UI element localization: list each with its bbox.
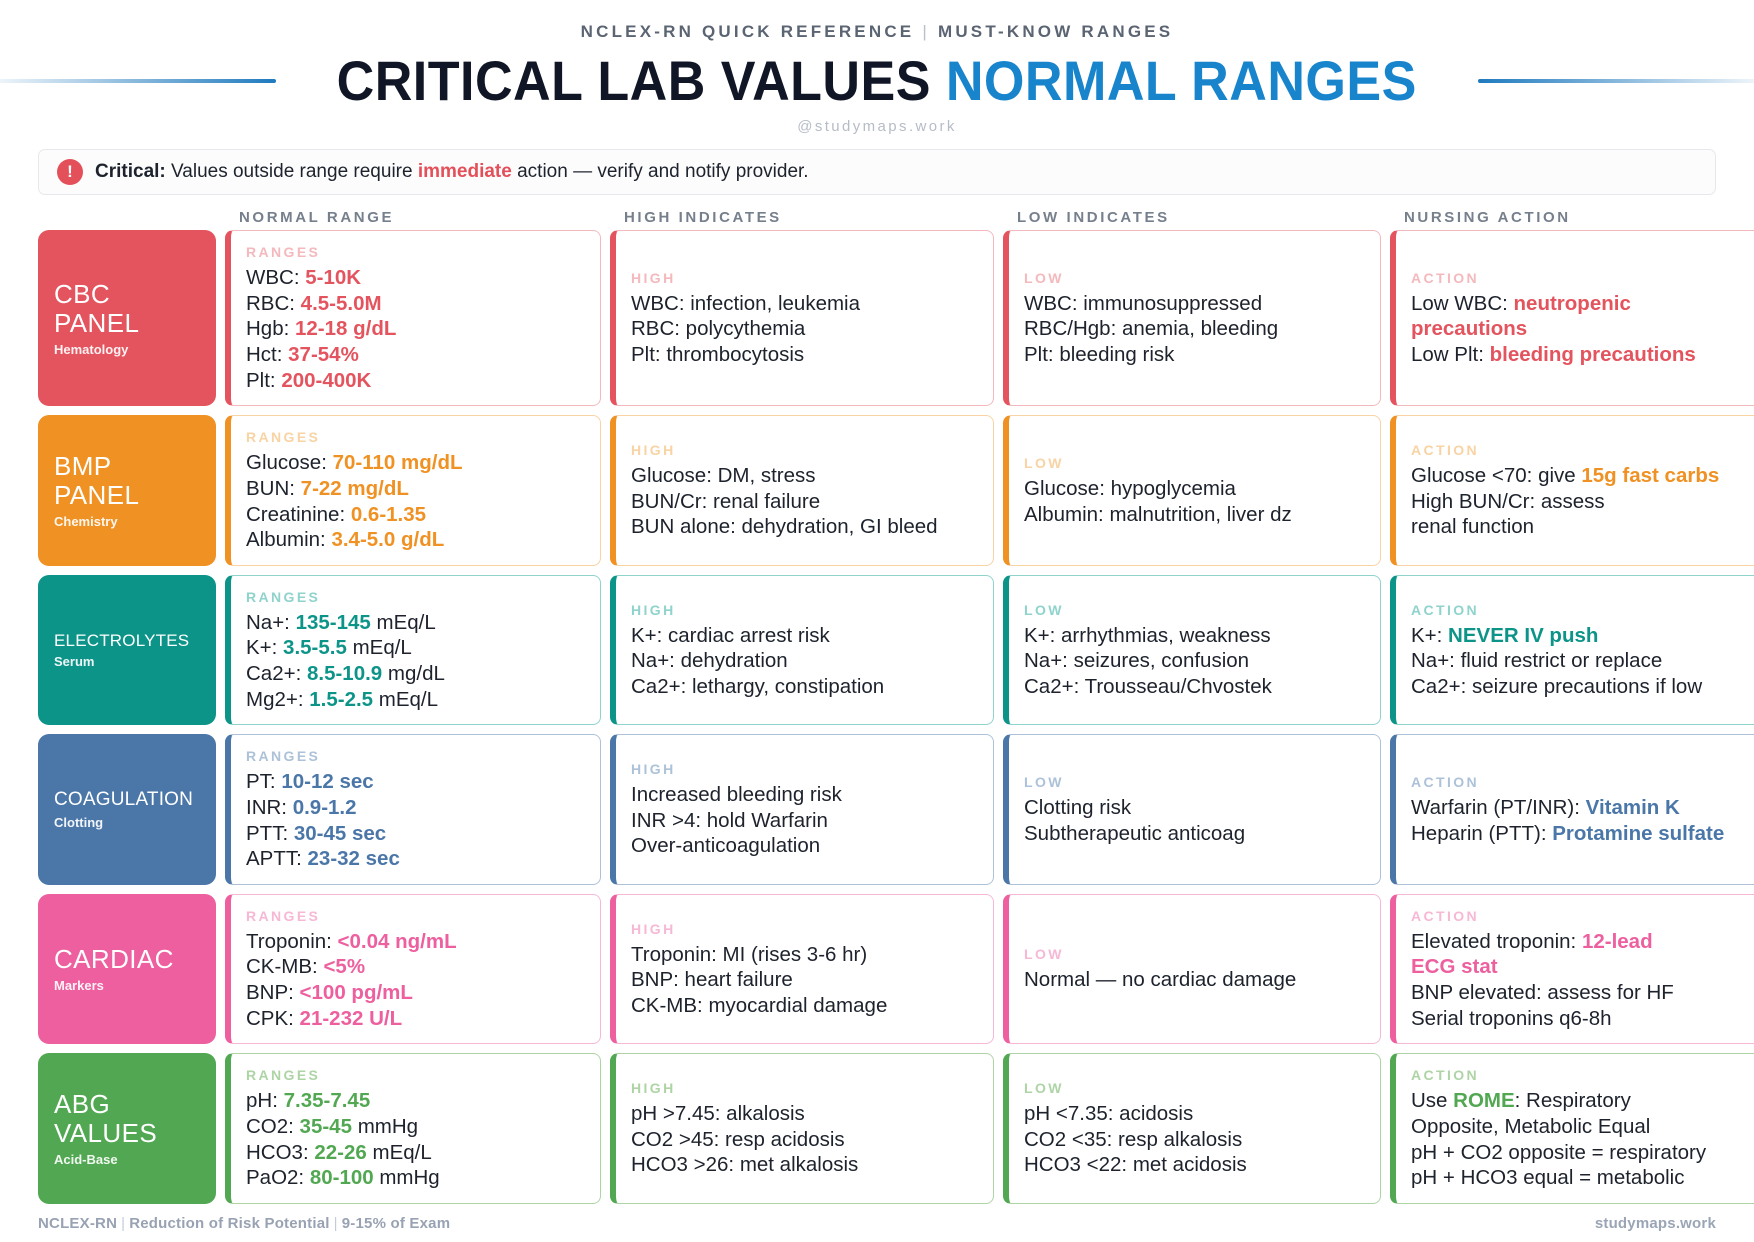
- card-label-low: LOW: [1024, 455, 1364, 471]
- critical-text-after: action — verify and notify provider.: [512, 161, 809, 182]
- card-label-ranges: RANGES: [246, 748, 584, 764]
- action-line: ECG stat: [1411, 954, 1753, 980]
- action-line: High BUN/Cr: assess: [1411, 489, 1753, 515]
- action-highlight: Vitamin K: [1586, 796, 1680, 819]
- low-line: HCO3 <22: met acidosis: [1024, 1152, 1364, 1178]
- high-line: CO2 >45: resp acidosis: [631, 1127, 977, 1153]
- action-highlight: ECG stat: [1411, 955, 1498, 978]
- action-highlight: bleeding precautions: [1490, 343, 1696, 366]
- action-line: BNP elevated: assess for HF: [1411, 980, 1753, 1006]
- high-card: HIGHTroponin: MI (rises 3-6 hr)BNP: hear…: [610, 894, 994, 1045]
- range-line: pH: 7.35-7.45: [246, 1088, 584, 1114]
- low-card: LOWK+: arrhythmias, weaknessNa+: seizure…: [1003, 575, 1381, 726]
- low-line: Normal — no cardiac damage: [1024, 967, 1364, 993]
- page-title: CRITICAL LAB VALUES NORMAL RANGES: [337, 52, 1417, 110]
- ranges-card: RANGESPT: 10-12 secINR: 0.9-1.2PTT: 30-4…: [225, 734, 601, 885]
- card-label-high: HIGH: [631, 270, 977, 286]
- range-value: 23-32 sec: [302, 847, 400, 870]
- high-line: Ca2+: lethargy, constipation: [631, 674, 977, 700]
- low-line: RBC/Hgb: anemia, bleeding: [1024, 316, 1364, 342]
- action-line: pH + HCO3 equal = metabolic: [1411, 1165, 1753, 1191]
- footer-percent: 9-15% of Exam: [342, 1215, 450, 1232]
- column-header-high-indicates: HIGH INDICATES: [610, 209, 994, 226]
- ranges-card: RANGESpH: 7.35-7.45CO2: 35-45 mmHgHCO3: …: [225, 1053, 601, 1204]
- range-value: 3.5-5.5: [277, 636, 347, 659]
- range-line: Hgb: 12-18 g/dL: [246, 316, 584, 342]
- low-line: K+: arrhythmias, weakness: [1024, 623, 1364, 649]
- action-highlight: precautions: [1411, 317, 1527, 340]
- high-line: Plt: thrombocytosis: [631, 342, 977, 368]
- range-value: 12-18 g/dL: [289, 317, 396, 340]
- footer-separator-2: |: [330, 1215, 342, 1232]
- high-line: HCO3 >26: met alkalosis: [631, 1152, 977, 1178]
- card-label-high: HIGH: [631, 1080, 977, 1096]
- title-rule-left: [0, 79, 276, 83]
- range-value: 5-10K: [300, 266, 362, 289]
- range-value: 22-26: [309, 1141, 367, 1164]
- ranges-card: RANGESGlucose: 70-110 mg/dLBUN: 7-22 mg/…: [225, 415, 601, 566]
- card-label-action: ACTION: [1411, 270, 1753, 286]
- card-label-ranges: RANGES: [246, 1067, 584, 1083]
- category-subtitle: Markers: [54, 978, 200, 993]
- category-subtitle: Hematology: [54, 342, 200, 357]
- column-header-spacer: [38, 209, 216, 226]
- range-line: Glucose: 70-110 mg/dL: [246, 450, 584, 476]
- footer-left: NCLEX-RN|Reduction of Risk Potential|9-1…: [38, 1215, 450, 1232]
- action-line: renal function: [1411, 514, 1753, 540]
- low-line: Subtherapeutic anticoag: [1024, 821, 1364, 847]
- action-card: ACTIONGlucose <70: give 15g fast carbsHi…: [1390, 415, 1754, 566]
- high-card: HIGHWBC: infection, leukemiaRBC: polycyt…: [610, 230, 994, 406]
- range-line: BNP: <100 pg/mL: [246, 980, 584, 1006]
- low-line: Glucose: hypoglycemia: [1024, 476, 1364, 502]
- critical-highlight: immediate: [418, 161, 512, 182]
- action-card: ACTIONK+: NEVER IV pushNa+: fluid restri…: [1390, 575, 1754, 726]
- action-card: ACTIONLow WBC: neutropenicprecautionsLow…: [1390, 230, 1754, 406]
- handle: @studymaps.work: [38, 118, 1716, 135]
- range-value: 200-400K: [276, 369, 372, 392]
- high-card: HIGHpH >7.45: alkalosisCO2 >45: resp aci…: [610, 1053, 994, 1204]
- title-accent: NORMAL RANGES: [946, 49, 1417, 112]
- low-line: CO2 <35: resp alkalosis: [1024, 1127, 1364, 1153]
- high-line: BUN/Cr: renal failure: [631, 489, 977, 515]
- range-line: PT: 10-12 sec: [246, 769, 584, 795]
- kicker-right: MUST-KNOW RANGES: [938, 22, 1173, 41]
- action-card: ACTIONUse ROME: RespiratoryOpposite, Met…: [1390, 1053, 1754, 1204]
- action-card: ACTIONWarfarin (PT/INR): Vitamin KHepari…: [1390, 734, 1754, 885]
- range-value: <0.04 ng/mL: [332, 930, 457, 953]
- card-label-action: ACTION: [1411, 442, 1753, 458]
- lab-values-grid: CBCPANELHematologyRANGESWBC: 5-10KRBC: 4…: [38, 230, 1716, 1204]
- action-highlight: Protamine sulfate: [1552, 822, 1724, 845]
- high-line: Increased bleeding risk: [631, 782, 977, 808]
- low-card: LOWWBC: immunosuppressedRBC/Hgb: anemia,…: [1003, 230, 1381, 406]
- card-label-high: HIGH: [631, 442, 977, 458]
- high-card: HIGHK+: cardiac arrest riskNa+: dehydrat…: [610, 575, 994, 726]
- action-line: K+: NEVER IV push: [1411, 623, 1753, 649]
- card-label-low: LOW: [1024, 1080, 1364, 1096]
- action-card: ACTIONElevated troponin: 12-leadECG stat…: [1390, 894, 1754, 1045]
- kicker: NCLEX-RN QUICK REFERENCE|MUST-KNOW RANGE…: [38, 22, 1716, 42]
- action-line: Low Plt: bleeding precautions: [1411, 342, 1753, 368]
- card-label-low: LOW: [1024, 270, 1364, 286]
- range-value: 0.6-1.35: [345, 503, 426, 526]
- low-line: Albumin: malnutrition, liver dz: [1024, 502, 1364, 528]
- card-label-ranges: RANGES: [246, 589, 584, 605]
- title-rule-right: [1478, 79, 1754, 83]
- range-line: HCO3: 22-26 mEq/L: [246, 1140, 584, 1166]
- range-value: <5%: [318, 955, 365, 978]
- action-line: Elevated troponin: 12-lead: [1411, 929, 1753, 955]
- low-line: Ca2+: Trousseau/Chvostek: [1024, 674, 1364, 700]
- range-value: 7-22 mg/dL: [295, 477, 409, 500]
- range-value: 7.35-7.45: [278, 1089, 370, 1112]
- critical-alert-bar: ! Critical: Values outside range require…: [38, 149, 1716, 195]
- high-line: INR >4: hold Warfarin: [631, 808, 977, 834]
- card-label-low: LOW: [1024, 774, 1364, 790]
- high-line: pH >7.45: alkalosis: [631, 1101, 977, 1127]
- action-line: Ca2+: seizure precautions if low: [1411, 674, 1753, 700]
- range-line: INR: 0.9-1.2: [246, 795, 584, 821]
- card-label-high: HIGH: [631, 761, 977, 777]
- card-label-action: ACTION: [1411, 774, 1753, 790]
- card-label-action: ACTION: [1411, 1067, 1753, 1083]
- range-value: 3.4-5.0 g/dL: [326, 528, 444, 551]
- footer-brand: studymaps.work: [1595, 1215, 1716, 1232]
- action-line: Opposite, Metabolic Equal: [1411, 1114, 1753, 1140]
- action-highlight: neutropenic: [1514, 292, 1631, 315]
- range-line: CPK: 21-232 U/L: [246, 1006, 584, 1032]
- range-line: Albumin: 3.4-5.0 g/dL: [246, 527, 584, 553]
- low-line: Plt: bleeding risk: [1024, 342, 1364, 368]
- column-header-low-indicates: LOW INDICATES: [1003, 209, 1381, 226]
- category-name: ABGVALUES: [54, 1090, 200, 1148]
- low-line: pH <7.35: acidosis: [1024, 1101, 1364, 1127]
- high-line: BNP: heart failure: [631, 967, 977, 993]
- high-line: BUN alone: dehydration, GI bleed: [631, 514, 977, 540]
- action-line: pH + CO2 opposite = respiratory: [1411, 1140, 1753, 1166]
- kicker-separator: |: [914, 22, 938, 41]
- category-name: COAGULATION: [54, 789, 200, 810]
- category-tile[interactable]: ABGVALUESAcid-Base: [38, 1053, 216, 1204]
- action-line: Na+: fluid restrict or replace: [1411, 648, 1753, 674]
- range-line: Mg2+: 1.5-2.5 mEq/L: [246, 687, 584, 713]
- range-line: CK-MB: <5%: [246, 954, 584, 980]
- category-tile[interactable]: BMPPANELChemistry: [38, 415, 216, 566]
- card-label-ranges: RANGES: [246, 908, 584, 924]
- low-line: Na+: seizures, confusion: [1024, 648, 1364, 674]
- range-line: BUN: 7-22 mg/dL: [246, 476, 584, 502]
- range-value: 80-100: [304, 1166, 374, 1189]
- ranges-card: RANGESNa+: 135-145 mEq/LK+: 3.5-5.5 mEq/…: [225, 575, 601, 726]
- infographic-page: NCLEX-RN QUICK REFERENCE|MUST-KNOW RANGE…: [0, 0, 1754, 1242]
- title-main: CRITICAL LAB VALUES: [337, 49, 931, 112]
- critical-alert-text: Critical: Values outside range require i…: [95, 161, 809, 183]
- ranges-card: RANGESTroponin: <0.04 ng/mLCK-MB: <5%BNP…: [225, 894, 601, 1045]
- critical-text-before: Values outside range require: [166, 161, 418, 182]
- footer-separator-1: |: [117, 1215, 129, 1232]
- low-card: LOWNormal — no cardiac damage: [1003, 894, 1381, 1045]
- range-value: 21-232 U/L: [294, 1007, 402, 1030]
- action-highlight: 15g fast carbs: [1581, 464, 1719, 487]
- range-line: K+: 3.5-5.5 mEq/L: [246, 635, 584, 661]
- range-line: RBC: 4.5-5.0M: [246, 291, 584, 317]
- range-line: CO2: 35-45 mmHg: [246, 1114, 584, 1140]
- card-label-high: HIGH: [631, 921, 977, 937]
- category-name: CBCPANEL: [54, 280, 200, 338]
- critical-label: Critical:: [95, 161, 166, 182]
- category-subtitle: Acid-Base: [54, 1152, 200, 1167]
- range-value: 4.5-5.0M: [295, 292, 382, 315]
- action-highlight: 12-lead: [1582, 930, 1653, 953]
- high-card: HIGHIncreased bleeding riskINR >4: hold …: [610, 734, 994, 885]
- footer: NCLEX-RN|Reduction of Risk Potential|9-1…: [38, 1215, 1716, 1232]
- range-value: <100 pg/mL: [294, 981, 413, 1004]
- range-value: 1.5-2.5: [304, 688, 374, 711]
- range-line: Plt: 200-400K: [246, 368, 584, 394]
- range-value: 30-45 sec: [288, 822, 386, 845]
- category-name: CARDIAC: [54, 945, 200, 974]
- card-label-low: LOW: [1024, 602, 1364, 618]
- range-line: Ca2+: 8.5-10.9 mg/dL: [246, 661, 584, 687]
- range-line: Creatinine: 0.6-1.35: [246, 502, 584, 528]
- range-line: APTT: 23-32 sec: [246, 846, 584, 872]
- category-name: ELECTROLYTES: [54, 631, 200, 650]
- range-line: PaO2: 80-100 mmHg: [246, 1165, 584, 1191]
- action-line: Warfarin (PT/INR): Vitamin K: [1411, 795, 1753, 821]
- low-card: LOWpH <7.35: acidosisCO2 <35: resp alkal…: [1003, 1053, 1381, 1204]
- card-label-ranges: RANGES: [246, 429, 584, 445]
- footer-category: Reduction of Risk Potential: [129, 1215, 329, 1232]
- range-line: PTT: 30-45 sec: [246, 821, 584, 847]
- low-card: LOWGlucose: hypoglycemiaAlbumin: malnutr…: [1003, 415, 1381, 566]
- category-name: BMPPANEL: [54, 452, 200, 510]
- high-line: RBC: polycythemia: [631, 316, 977, 342]
- kicker-left: NCLEX-RN QUICK REFERENCE: [581, 22, 915, 41]
- high-line: Troponin: MI (rises 3-6 hr): [631, 942, 977, 968]
- action-line: precautions: [1411, 316, 1753, 342]
- range-value: 70-110 mg/dL: [327, 451, 463, 474]
- column-headers: NORMAL RANGE HIGH INDICATES LOW INDICATE…: [38, 209, 1716, 226]
- range-line: Troponin: <0.04 ng/mL: [246, 929, 584, 955]
- category-tile[interactable]: CBCPANELHematology: [38, 230, 216, 406]
- column-header-normal-range: NORMAL RANGE: [225, 209, 601, 226]
- action-line: Glucose <70: give 15g fast carbs: [1411, 463, 1753, 489]
- low-line: WBC: immunosuppressed: [1024, 291, 1364, 317]
- range-line: WBC: 5-10K: [246, 265, 584, 291]
- card-label-action: ACTION: [1411, 908, 1753, 924]
- action-line: Serial troponins q6-8h: [1411, 1006, 1753, 1032]
- action-highlight: ROME: [1453, 1089, 1515, 1112]
- column-header-nursing-action: NURSING ACTION: [1390, 209, 1754, 226]
- action-line: Low WBC: neutropenic: [1411, 291, 1753, 317]
- ranges-card: RANGESWBC: 5-10KRBC: 4.5-5.0MHgb: 12-18 …: [225, 230, 601, 406]
- range-value: 35-45: [294, 1115, 352, 1138]
- range-value: 0.9-1.2: [287, 796, 357, 819]
- category-subtitle: Clotting: [54, 815, 200, 830]
- high-line: CK-MB: myocardial damage: [631, 993, 977, 1019]
- category-tile[interactable]: CARDIACMarkers: [38, 894, 216, 1045]
- action-line: Use ROME: Respiratory: [1411, 1088, 1753, 1114]
- high-line: Glucose: DM, stress: [631, 463, 977, 489]
- range-value: 37-54%: [282, 343, 358, 366]
- footer-exam: NCLEX-RN: [38, 1215, 117, 1232]
- high-line: K+: cardiac arrest risk: [631, 623, 977, 649]
- high-line: WBC: infection, leukemia: [631, 291, 977, 317]
- action-line: Heparin (PTT): Protamine sulfate: [1411, 821, 1753, 847]
- range-value: 10-12 sec: [276, 770, 374, 793]
- high-line: Na+: dehydration: [631, 648, 977, 674]
- category-subtitle: Chemistry: [54, 514, 200, 529]
- action-highlight: NEVER IV push: [1448, 624, 1598, 647]
- category-tile[interactable]: COAGULATIONClotting: [38, 734, 216, 885]
- low-card: LOWClotting riskSubtherapeutic anticoag: [1003, 734, 1381, 885]
- high-card: HIGHGlucose: DM, stressBUN/Cr: renal fai…: [610, 415, 994, 566]
- range-value: 135-145: [290, 611, 371, 634]
- category-tile[interactable]: ELECTROLYTESSerum: [38, 575, 216, 726]
- range-line: Hct: 37-54%: [246, 342, 584, 368]
- high-line: Over-anticoagulation: [631, 833, 977, 859]
- title-row: CRITICAL LAB VALUES NORMAL RANGES: [38, 52, 1716, 110]
- card-label-action: ACTION: [1411, 602, 1753, 618]
- card-label-ranges: RANGES: [246, 244, 584, 260]
- range-value: 8.5-10.9: [301, 662, 382, 685]
- low-line: Clotting risk: [1024, 795, 1364, 821]
- range-line: Na+: 135-145 mEq/L: [246, 610, 584, 636]
- exclamation-icon: !: [57, 159, 83, 185]
- card-label-high: HIGH: [631, 602, 977, 618]
- card-label-low: LOW: [1024, 946, 1364, 962]
- category-subtitle: Serum: [54, 654, 200, 669]
